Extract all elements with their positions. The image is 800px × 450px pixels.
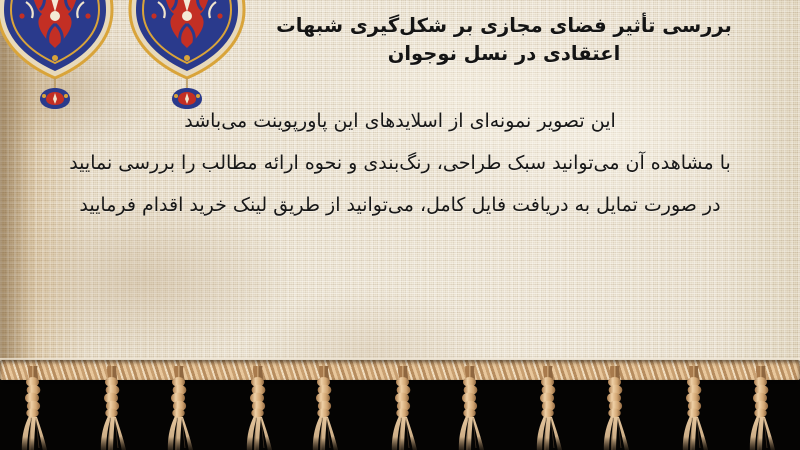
body-line-3: در صورت تمایل به دریافت فایل کامل، می‌تو… [20, 196, 780, 215]
fringe-tassel [598, 366, 632, 450]
fringe-tassel [677, 366, 711, 450]
fringe-tassel [162, 366, 196, 450]
slide-body: این تصویر نمونه‌ای از اسلایدهای این پاور… [20, 112, 780, 238]
slide-title: بررسی تأثیر فضای مجازی بر شکل‌گیری شبهات… [248, 12, 760, 69]
fringe-tassel [307, 366, 341, 450]
fringe-tassel [241, 366, 275, 450]
body-line-2: با مشاهده آن می‌توانید سبک طراحی، رنگ‌بن… [20, 154, 780, 173]
fringe-tassel [95, 366, 129, 450]
fringe-tassel [531, 366, 565, 450]
fringe-tassel [16, 366, 50, 450]
fringe-tassel [386, 366, 420, 450]
carpet-knotted-fringe [0, 352, 800, 450]
fringe-tassel [453, 366, 487, 450]
fringe-tassel [744, 366, 778, 450]
presentation-slide: بررسی تأثیر فضای مجازی بر شکل‌گیری شبهات… [0, 0, 800, 450]
persian-medallion-ornament-left [0, 0, 114, 118]
body-line-1: این تصویر نمونه‌ای از اسلایدهای این پاور… [20, 112, 780, 131]
persian-medallion-ornament-right [128, 0, 246, 118]
